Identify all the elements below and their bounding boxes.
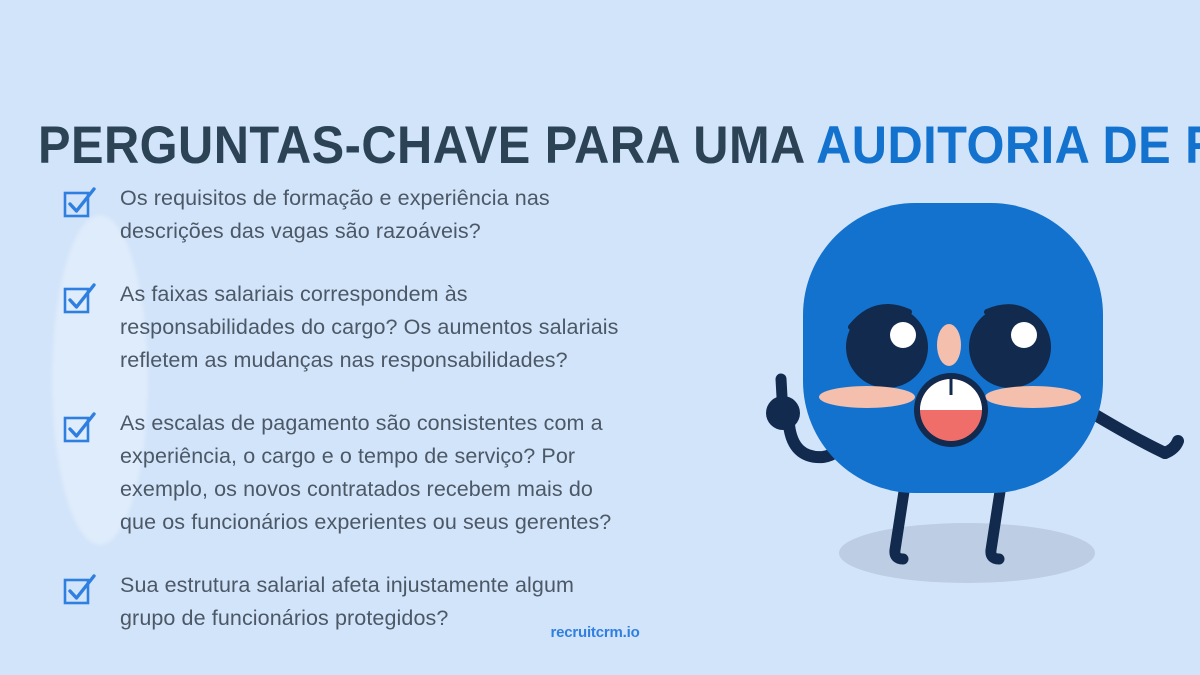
list-item-line: Sua estrutura salarial afeta injustament…	[120, 569, 574, 602]
list-item-text: As faixas salariais correspondem às resp…	[120, 278, 619, 377]
checkbox-checked-icon[interactable]	[62, 411, 96, 445]
checkbox-checked-icon[interactable]	[62, 282, 96, 316]
right-arm	[1087, 410, 1165, 453]
infographic-canvas: PERGUNTAS-CHAVE PARA UMA AUDITORIA DE RE…	[0, 0, 1200, 675]
left-eye-highlight	[890, 322, 916, 348]
list-item-text: As escalas de pagamento são consistentes…	[120, 407, 611, 539]
checkbox-checked-icon[interactable]	[62, 573, 96, 607]
left-eye	[846, 306, 928, 388]
checklist: Os requisitos de formação e experiência …	[62, 182, 722, 665]
checkbox-checked-icon[interactable]	[62, 186, 96, 220]
list-item-line: descrições das vagas são razoáveis?	[120, 215, 550, 248]
page-title-dark-part: PERGUNTAS-CHAVE PARA UMA	[38, 116, 816, 175]
right-hand	[1165, 441, 1178, 453]
list-item-line: Os requisitos de formação e experiência …	[120, 182, 550, 215]
list-item[interactable]: As faixas salariais correspondem às resp…	[62, 278, 722, 377]
list-item-line: exemplo, os novos contratados recebem ma…	[120, 473, 611, 506]
list-item-line: experiência, o cargo e o tempo de serviç…	[120, 440, 611, 473]
right-eye	[969, 306, 1051, 388]
list-item[interactable]: Os requisitos de formação e experiência …	[62, 182, 722, 248]
page-title: PERGUNTAS-CHAVE PARA UMA AUDITORIA DE RE…	[38, 116, 1087, 176]
list-item-line: refletem as mudanças nas responsabilidad…	[120, 344, 619, 377]
list-item-line: As escalas de pagamento são consistentes…	[120, 407, 611, 440]
blue-blob-character-illustration	[735, 185, 1195, 605]
page-title-blue-part: AUDITORIA DE REMUNERAÇÃO	[816, 116, 1200, 175]
list-item-line: As faixas salariais correspondem às	[120, 278, 619, 311]
right-eye-highlight	[1011, 322, 1037, 348]
character-shadow	[839, 523, 1095, 583]
list-item-line: que os funcionários experientes ou seus …	[120, 506, 611, 539]
thumb-up	[781, 379, 782, 397]
left-cheek	[819, 386, 915, 408]
list-item-text: Os requisitos de formação e experiência …	[120, 182, 550, 248]
nose	[937, 324, 961, 366]
right-cheek	[985, 386, 1081, 408]
list-item[interactable]: As escalas de pagamento são consistentes…	[62, 407, 722, 539]
list-item-line: responsabilidades do cargo? Os aumentos …	[120, 311, 619, 344]
recruitcrm-logo-text[interactable]: recruitcrm.io	[0, 624, 1190, 641]
